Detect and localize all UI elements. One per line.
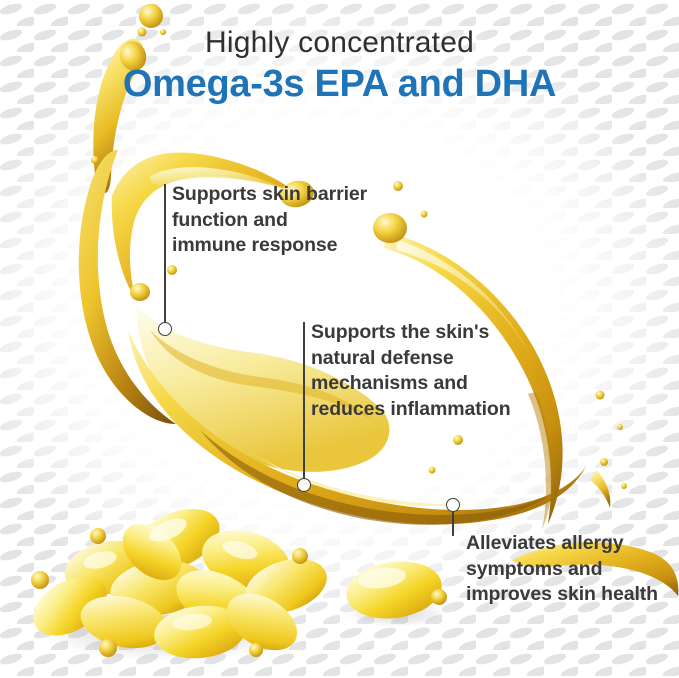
leader-marker-natural-defense: [297, 478, 311, 492]
callout-natural-defense: Supports the skin's natural defense mech…: [311, 320, 539, 423]
headline-block: Highly concentrated Omega-3s EPA and DHA: [0, 27, 679, 106]
leader-marker-allergy-relief: [446, 498, 460, 512]
headline-subtitle: Highly concentrated: [0, 27, 679, 59]
leader-marker-skin-barrier: [158, 322, 172, 336]
callout-skin-barrier: Supports skin barrier function and immun…: [172, 182, 387, 259]
headline-title: Omega-3s EPA and DHA: [0, 63, 679, 106]
omega3-product-infographic: Highly concentrated Omega-3s EPA and DHA…: [0, 0, 679, 678]
callout-allergy-relief: Alleviates allergy symptoms and improves…: [466, 531, 671, 608]
